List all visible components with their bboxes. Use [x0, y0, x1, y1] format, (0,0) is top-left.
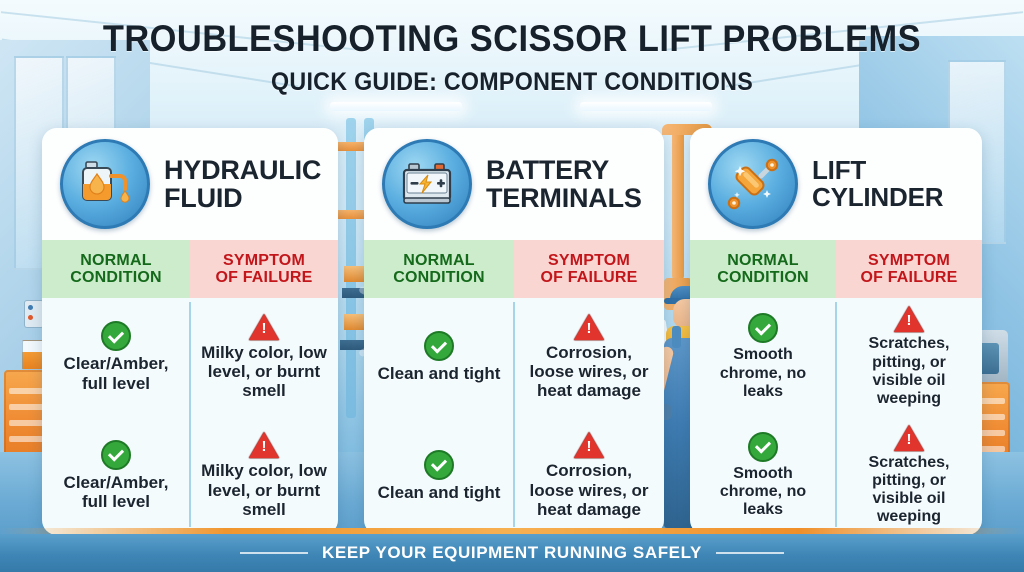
column-headers: NORMAL CONDITION SYMPTOM OF FAILURE: [364, 240, 664, 298]
card-battery-terminals[interactable]: BATTERY TERMINALS NORMAL CONDITION SYMPT…: [364, 128, 664, 535]
page-title: TROUBLESHOOTING SCISSOR LIFT PROBLEMS: [36, 18, 988, 60]
cards-container: HYDRAULIC FLUID NORMAL CONDITION SYMPTOM…: [0, 128, 1024, 536]
card-title: BATTERY TERMINALS: [486, 156, 642, 212]
column-header-symptom: SYMPTOM OF FAILURE: [514, 240, 664, 298]
card-header: HYDRAULIC FLUID: [42, 128, 338, 240]
cell-text: Clean and tight: [378, 364, 501, 383]
table-row: Clean and tight: [364, 298, 514, 417]
cell-text: Clear/Amber, full level: [52, 473, 180, 512]
card-header: BATTERY TERMINALS: [364, 128, 664, 240]
warning-icon: [249, 432, 279, 458]
column-normal: Clean and tight Clean and tight: [364, 298, 514, 535]
card-title: LIFT CYLINDER: [812, 157, 943, 211]
card-title-line1: HYDRAULIC: [164, 156, 321, 184]
cell-text: Corrosion, loose wires, or heat damage: [524, 343, 654, 401]
footer-band: KEEP YOUR EQUIPMENT RUNNING SAFELY: [0, 534, 1024, 572]
column-header-normal: NORMAL CONDITION: [42, 240, 190, 298]
cell-text: Scratches, pitting, or visible oil weepi…: [846, 335, 972, 408]
check-icon: [101, 440, 131, 470]
warning-icon: [574, 432, 604, 458]
card-title-line1: BATTERY: [486, 156, 642, 184]
check-icon: [748, 432, 778, 462]
table-row: Scratches, pitting, or visible oil weepi…: [836, 417, 982, 536]
warning-icon: [894, 306, 924, 332]
cell-text: Smooth chrome, no leaks: [700, 346, 826, 401]
cell-text: Clean and tight: [378, 483, 501, 502]
column-headers: NORMAL CONDITION SYMPTOM OF FAILURE: [42, 240, 338, 298]
check-icon: [424, 331, 454, 361]
hydraulic-fluid-icon: [60, 139, 150, 229]
column-divider: [513, 302, 515, 527]
card-hydraulic-fluid[interactable]: HYDRAULIC FLUID NORMAL CONDITION SYMPTOM…: [42, 128, 338, 535]
cell-text: Scratches, pitting, or visible oil weepi…: [846, 454, 972, 527]
cell-text: Milky color, low level, or burnt smell: [200, 343, 328, 401]
cell-text: Smooth chrome, no leaks: [700, 465, 826, 520]
column-header-symptom: SYMPTOM OF FAILURE: [190, 240, 338, 298]
check-icon: [101, 321, 131, 351]
cell-text: Clear/Amber, full level: [52, 354, 180, 393]
table-row: Smooth chrome, no leaks: [690, 417, 836, 536]
card-title: HYDRAULIC FLUID: [164, 156, 321, 212]
cell-text: Corrosion, loose wires, or heat damage: [524, 461, 654, 519]
table-row: Milky color, low level, or burnt smell: [190, 298, 338, 417]
column-divider: [835, 302, 837, 527]
column-divider: [189, 302, 191, 527]
check-icon: [748, 313, 778, 343]
header-block: TROUBLESHOOTING SCISSOR LIFT PROBLEMS QU…: [0, 18, 1024, 97]
column-symptom: Scratches, pitting, or visible oil weepi…: [836, 298, 982, 535]
warning-icon: [574, 314, 604, 340]
card-body: Clear/Amber, full level Clear/Amber, ful…: [42, 298, 338, 535]
column-headers: NORMAL CONDITION SYMPTOM OF FAILURE: [690, 240, 982, 298]
warning-icon: [249, 314, 279, 340]
card-title-line2: FLUID: [164, 184, 321, 212]
card-body: Smooth chrome, no leaks Smooth chrome, n…: [690, 298, 982, 535]
table-row: Clear/Amber, full level: [42, 298, 190, 417]
lift-cylinder-icon: [708, 139, 798, 229]
battery-icon: [382, 139, 472, 229]
table-row: Clear/Amber, full level: [42, 417, 190, 536]
ceiling-lamp: [330, 102, 462, 111]
table-row: Corrosion, loose wires, or heat damage: [514, 417, 664, 536]
card-lift-cylinder[interactable]: LIFT CYLINDER NORMAL CONDITION SYMPTOM O…: [690, 128, 982, 535]
card-title-line2: TERMINALS: [486, 184, 642, 212]
footer-dash-left: [240, 552, 308, 554]
column-symptom: Milky color, low level, or burnt smell M…: [190, 298, 338, 535]
column-header-symptom: SYMPTOM OF FAILURE: [836, 240, 982, 298]
table-row: Milky color, low level, or burnt smell: [190, 417, 338, 536]
card-title-line2: CYLINDER: [812, 184, 943, 211]
card-header: LIFT CYLINDER: [690, 128, 982, 240]
column-normal: Smooth chrome, no leaks Smooth chrome, n…: [690, 298, 836, 535]
column-symptom: Corrosion, loose wires, or heat damage C…: [514, 298, 664, 535]
card-title-line1: LIFT: [812, 157, 943, 184]
table-row: Clean and tight: [364, 417, 514, 536]
table-row: Corrosion, loose wires, or heat damage: [514, 298, 664, 417]
infographic-canvas: TROUBLESHOOTING SCISSOR LIFT PROBLEMS QU…: [0, 0, 1024, 572]
column-header-normal: NORMAL CONDITION: [364, 240, 514, 298]
ceiling-lamp: [580, 102, 712, 111]
check-icon: [424, 450, 454, 480]
page-subtitle: QUICK GUIDE: COMPONENT CONDITIONS: [36, 68, 988, 97]
card-body: Clean and tight Clean and tight Corrosio…: [364, 298, 664, 535]
table-row: Smooth chrome, no leaks: [690, 298, 836, 417]
column-normal: Clear/Amber, full level Clear/Amber, ful…: [42, 298, 190, 535]
warning-icon: [894, 425, 924, 451]
cell-text: Milky color, low level, or burnt smell: [200, 461, 328, 519]
column-header-normal: NORMAL CONDITION: [690, 240, 836, 298]
footer-dash-right: [716, 552, 784, 554]
table-row: Scratches, pitting, or visible oil weepi…: [836, 298, 982, 417]
footer-text: KEEP YOUR EQUIPMENT RUNNING SAFELY: [322, 543, 702, 563]
